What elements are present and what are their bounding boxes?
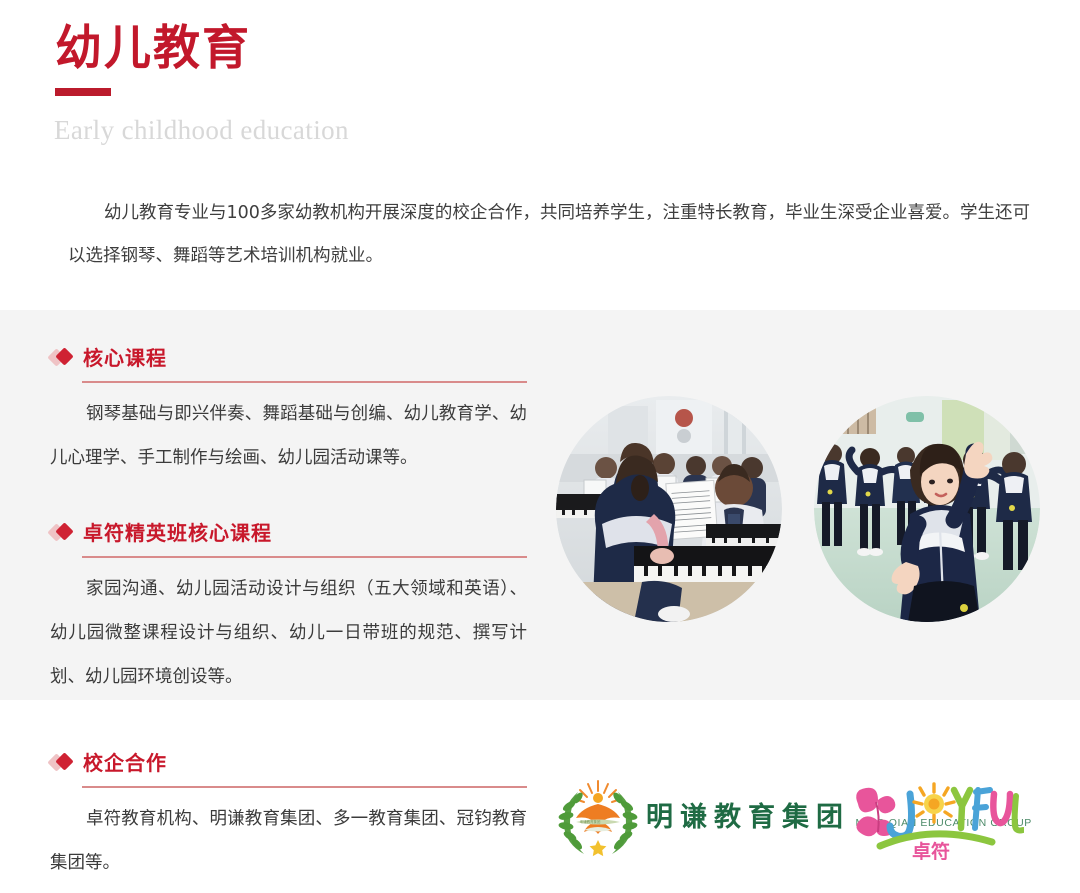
- section-heading: 卓符精英班核心课程: [50, 517, 530, 547]
- sun-icon: [914, 784, 954, 822]
- svg-text:明谦教育集团: 明谦教育集团: [580, 819, 601, 824]
- page-root: 幼儿教育 Early childhood education 幼儿教育专业与10…: [0, 0, 1080, 893]
- section-school-enterprise-cooperation: 校企合作 卓符教育机构、明谦教育集团、多一教育集团、冠钧教育集团等。: [50, 747, 530, 777]
- section-divider: [82, 556, 527, 558]
- section-body-text: 家园沟通、幼儿园活动设计与组织（五大领域和英语）、幼儿园微整课程设计与组织、幼儿…: [50, 567, 527, 699]
- section-title: 核心课程: [83, 342, 167, 371]
- section-core-courses: 核心课程 钢琴基础与即兴伴奏、舞蹈基础与创编、幼儿教育学、幼儿心理学、手工制作与…: [50, 342, 530, 372]
- section-body-text: 钢琴基础与即兴伴奏、舞蹈基础与创编、幼儿教育学、幼儿心理学、手工制作与绘画、幼儿…: [50, 392, 527, 480]
- intro-paragraph: 幼儿教育专业与100多家幼教机构开展深度的校企合作，共同培养学生，注重特长教育，…: [68, 192, 1030, 278]
- section-title: 卓符精英班核心课程: [83, 517, 272, 546]
- section-divider: [82, 381, 527, 383]
- section-elite-courses: 卓符精英班核心课程 家园沟通、幼儿园活动设计与组织（五大领域和英语）、幼儿园微整…: [50, 517, 530, 547]
- joyful-name-cn: 卓符: [912, 840, 950, 860]
- page-title: 幼儿教育: [55, 22, 251, 76]
- laurel-wreath-emblem-icon: 明谦教育集团: [556, 778, 640, 858]
- section-heading: 核心课程: [50, 342, 530, 372]
- page-header: 幼儿教育 Early childhood education 幼儿教育专业与10…: [0, 0, 1080, 310]
- title-underline-bar: [55, 88, 111, 96]
- section-title: 校企合作: [83, 747, 167, 776]
- mingqian-name-cn: 明谦教育集团: [646, 802, 850, 833]
- diamond-bullet-icon: [50, 349, 82, 367]
- section-heading: 校企合作: [50, 747, 530, 777]
- page-subtitle-english: Early childhood education: [54, 115, 349, 146]
- section-divider: [82, 786, 527, 788]
- partner-logos-row: 明谦教育集团: [556, 778, 1056, 862]
- diamond-bullet-icon: [50, 754, 82, 772]
- dance-classroom-photo: [814, 396, 1040, 622]
- piano-classroom-photo: [556, 396, 782, 622]
- section-body-text: 卓符教育机构、明谦教育集团、多一教育集团、冠钧教育集团等。: [50, 797, 527, 885]
- diamond-bullet-icon: [50, 524, 82, 542]
- joyful-zhuofu-logo: 卓符: [852, 776, 1024, 860]
